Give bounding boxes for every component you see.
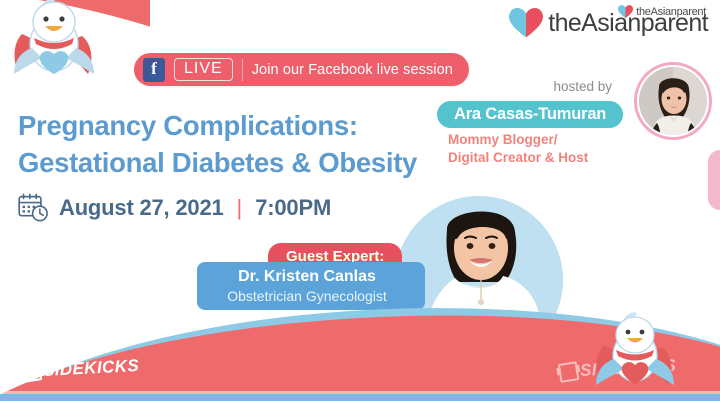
divider bbox=[242, 59, 243, 81]
sidekicks-mark-icon bbox=[558, 361, 580, 383]
guest-name: Dr. Kristen Canlas bbox=[238, 267, 376, 287]
host-name: Ara Casas-Tumuran bbox=[437, 101, 623, 128]
superhero-bird-mascot bbox=[592, 311, 678, 391]
page-title: Pregnancy Complications: Gestational Dia… bbox=[18, 108, 488, 181]
host-avatar-photo bbox=[639, 67, 707, 135]
hosted-by-label: hosted by bbox=[553, 79, 612, 94]
sidekicks-mark-icon bbox=[21, 361, 43, 383]
live-banner-message: Join our Facebook live session bbox=[252, 62, 453, 78]
brand-logo: theAsianparent bbox=[509, 8, 708, 39]
title-line-2: Gestational Diabetes & Obesity bbox=[18, 145, 488, 182]
host-role-line-1: Mommy Blogger/ bbox=[448, 131, 588, 149]
live-badge: LIVE bbox=[174, 58, 233, 81]
brand-logo-text: theAsianparent bbox=[548, 11, 708, 36]
footer-strip-blue bbox=[0, 394, 720, 401]
host-role: Mommy Blogger/ Digital Creator & Host bbox=[448, 131, 588, 167]
guest-info-card: Dr. Kristen Canlas Obstetrician Gynecolo… bbox=[197, 262, 425, 310]
facebook-live-banner[interactable]: f LIVE Join our Facebook live session bbox=[134, 53, 469, 86]
webinar-poster: theAsianparent theAsianparent f LIVE Joi… bbox=[0, 0, 720, 401]
host-role-line-2: Digital Creator & Host bbox=[448, 149, 588, 167]
schedule-row: August 27, 2021 | 7:00PM bbox=[18, 193, 331, 222]
avatar bbox=[634, 62, 712, 140]
heart-icon bbox=[509, 8, 543, 39]
event-date: August 27, 2021 bbox=[59, 195, 224, 221]
background-pink-accent bbox=[708, 150, 720, 210]
superhero-bird-mascot bbox=[8, 0, 100, 82]
event-time: 7:00PM bbox=[255, 195, 331, 221]
schedule-separator: | bbox=[237, 195, 243, 221]
guest-role: Obstetrician Gynecologist bbox=[227, 287, 387, 305]
facebook-f-icon: f bbox=[143, 58, 165, 82]
calendar-clock-icon bbox=[18, 193, 49, 222]
title-line-1: Pregnancy Complications: bbox=[18, 108, 488, 145]
